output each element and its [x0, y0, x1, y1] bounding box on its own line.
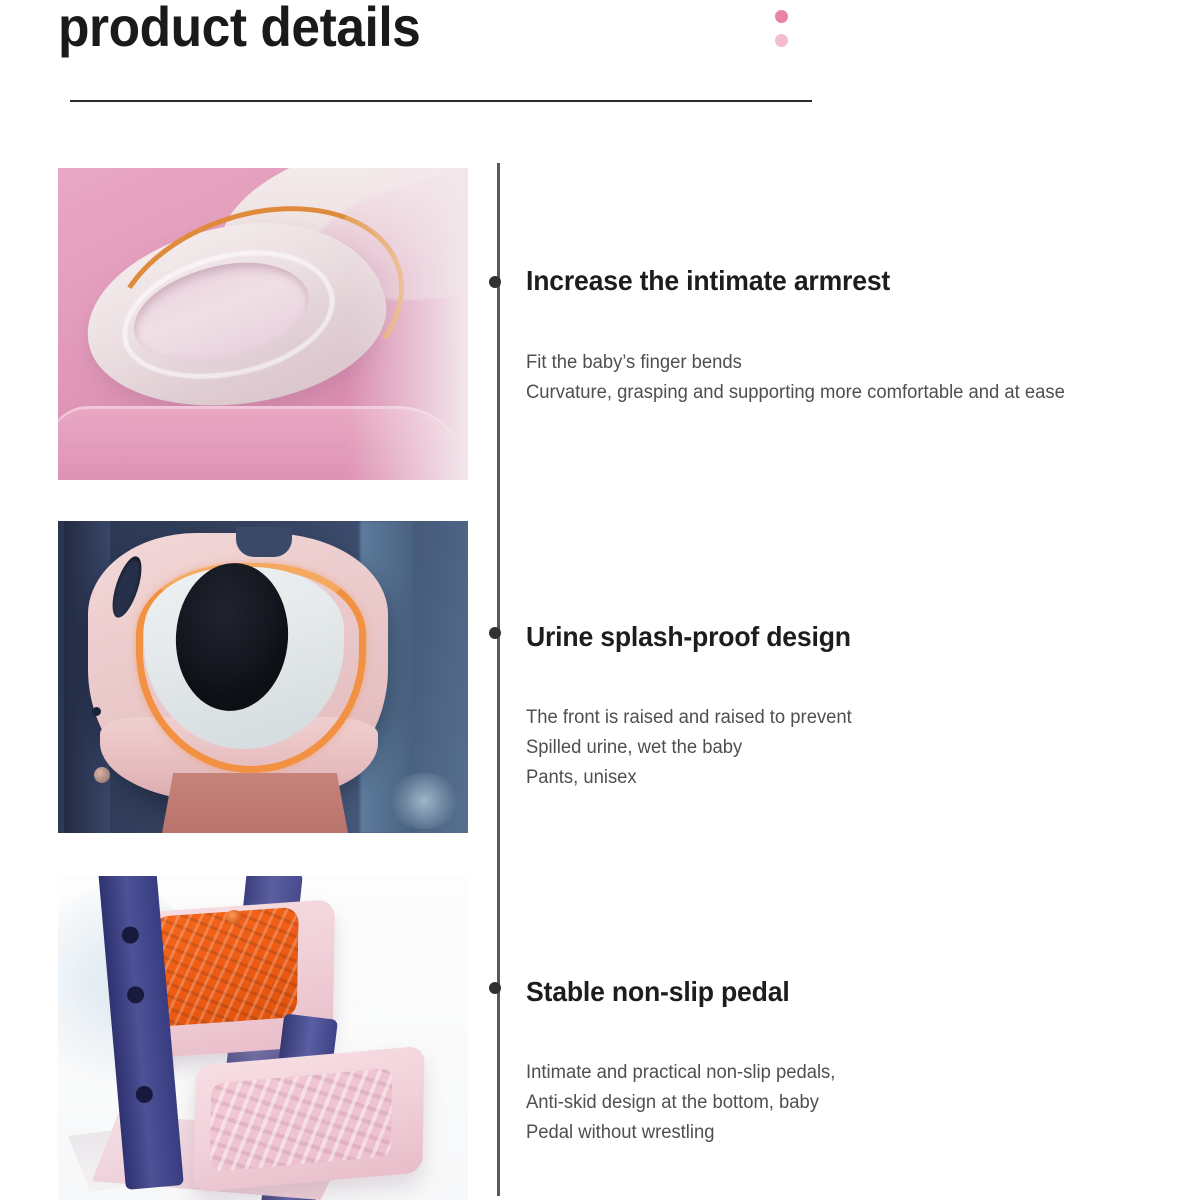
feature-image-pedal	[58, 876, 468, 1200]
header-divider	[70, 100, 812, 102]
decorative-dot-icon	[775, 34, 788, 47]
feature-body-line: Pants, unisex	[526, 763, 1147, 793]
decorative-dot-icon	[775, 10, 788, 23]
timeline-bullet-1	[489, 276, 501, 288]
pedal-grip-pad	[151, 907, 299, 1028]
feature-image-splash-proof	[58, 521, 468, 833]
feature-body-line: The front is raised and raised to preven…	[526, 703, 1147, 733]
feature-image-armrest	[58, 168, 468, 480]
timeline-bullet-3	[489, 982, 501, 994]
page-title: product details	[58, 0, 420, 58]
timeline-bullet-2	[489, 627, 501, 639]
pedal-antislip-pad	[210, 1068, 393, 1172]
feature-heading-pedal: Stable non-slip pedal	[526, 976, 1134, 1008]
decorative-dots	[775, 10, 795, 60]
feature-body-line: Anti-skid design at the bottom, baby	[526, 1088, 1147, 1118]
feature-body-line: Fit the baby’s finger bends	[526, 348, 1147, 378]
feature-heading-armrest: Increase the intimate armrest	[526, 265, 1134, 297]
feature-body-line: Spilled urine, wet the baby	[526, 733, 1147, 763]
feature-body-line: Pedal without wrestling	[526, 1118, 1147, 1148]
timeline-axis	[497, 163, 500, 1196]
feature-heading-splash-proof: Urine splash-proof design	[526, 621, 1134, 653]
feature-body-line: Curvature, grasping and supporting more …	[526, 378, 1147, 408]
feature-body-line: Intimate and practical non-slip pedals,	[526, 1058, 1147, 1088]
